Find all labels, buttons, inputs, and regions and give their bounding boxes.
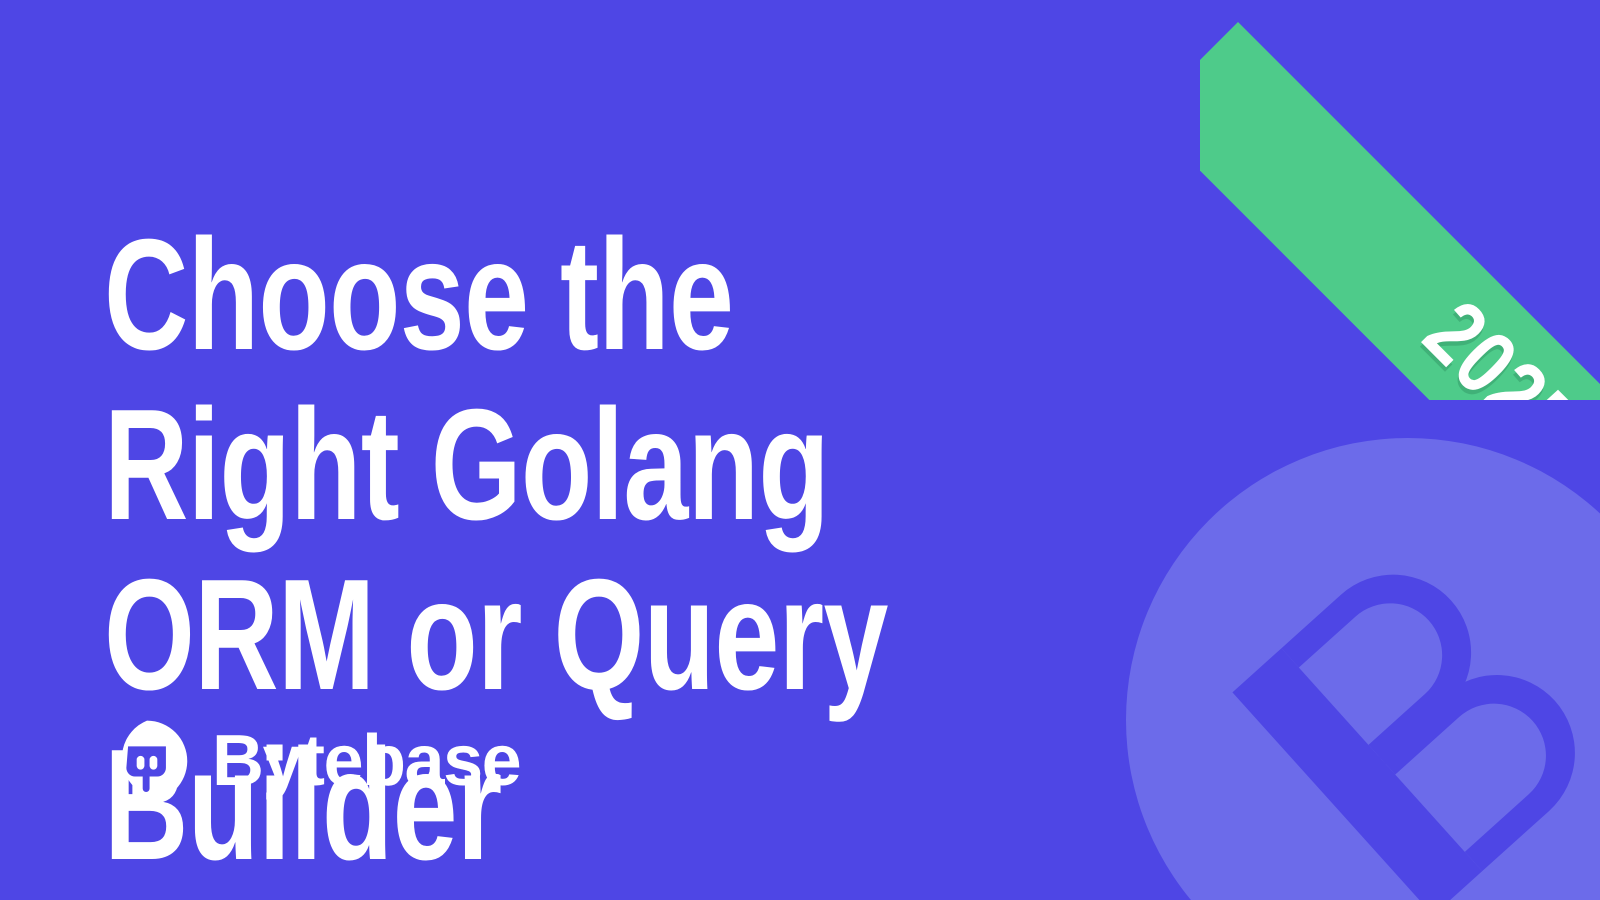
brand-name-label: Bytebase xyxy=(212,725,520,797)
bytebase-logo-icon xyxy=(104,718,190,804)
ribbon-band: 2025 xyxy=(1200,22,1600,400)
bytebase-b-monogram-icon xyxy=(1120,432,1600,900)
social-card: 2025 Choose the Right Golang ORM or Quer… xyxy=(0,0,1600,900)
corner-ribbon: 2025 xyxy=(1200,0,1600,400)
brand-lockup: Bytebase xyxy=(104,718,520,804)
ribbon-year-label: 2025 xyxy=(1408,286,1593,400)
